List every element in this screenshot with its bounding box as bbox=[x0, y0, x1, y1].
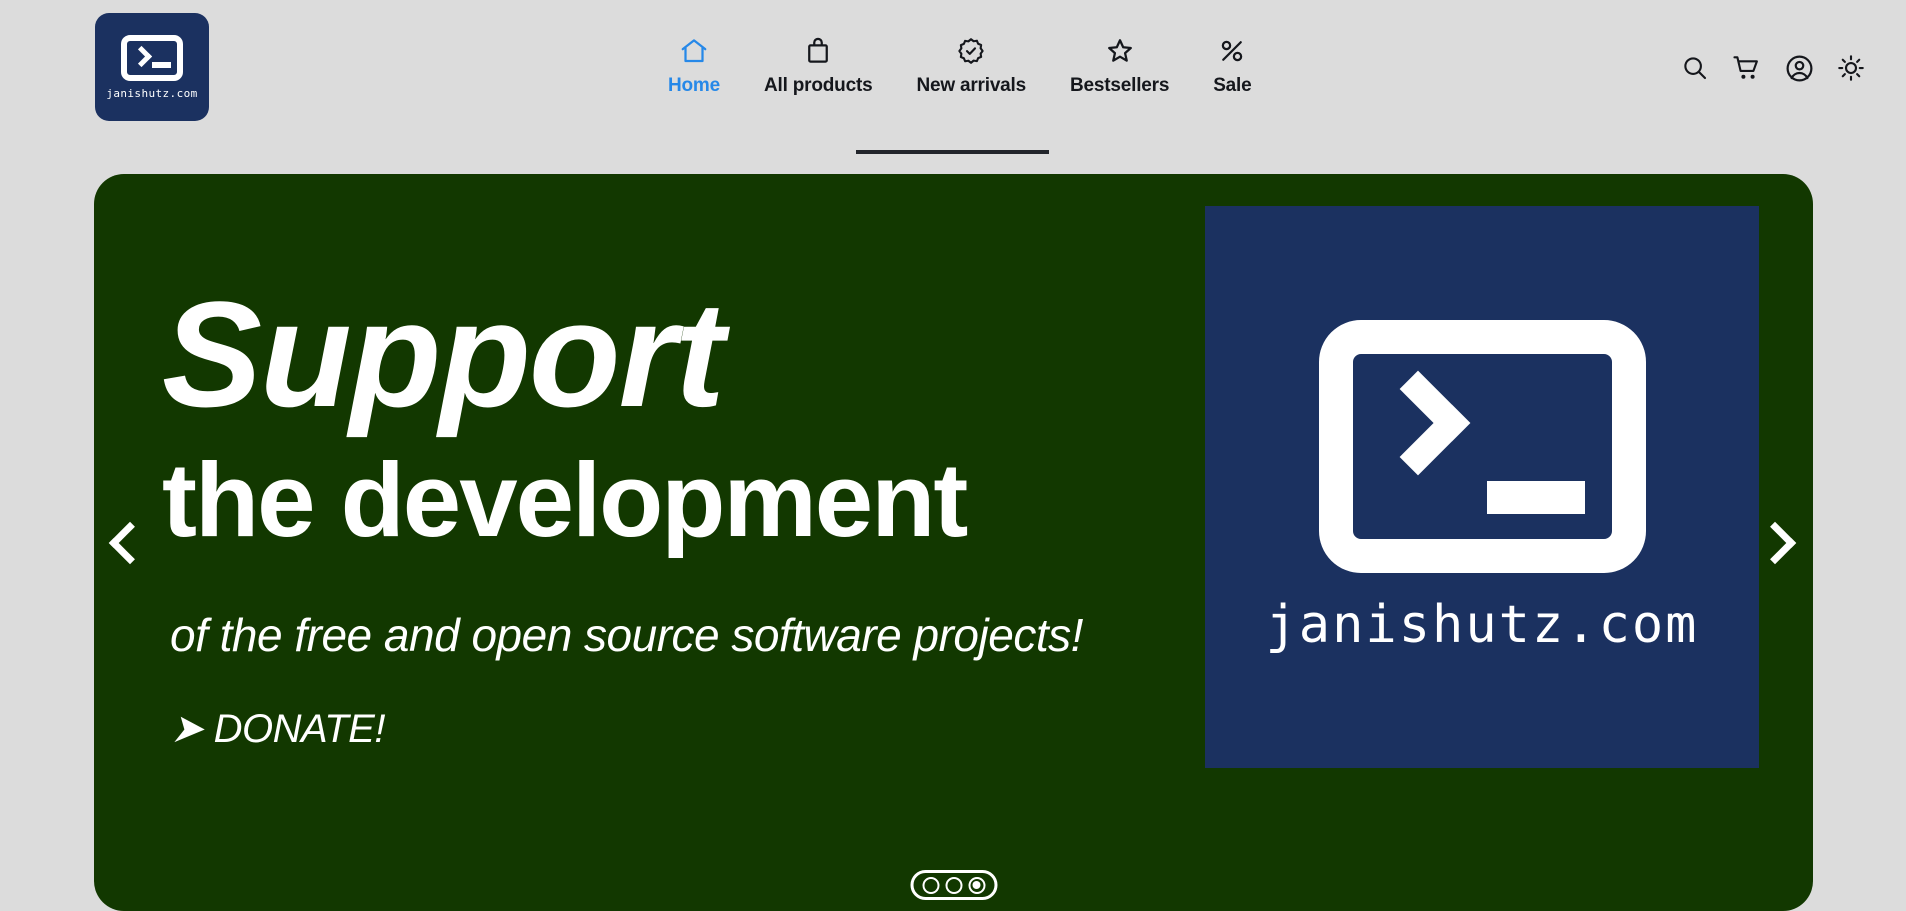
site-header: janishutz.com Home All products bbox=[0, 0, 1906, 170]
nav-item-home[interactable]: Home bbox=[646, 36, 742, 97]
nav-label-new-arrivals: New arrivals bbox=[916, 75, 1026, 97]
donate-link[interactable]: ➤ DONATE! bbox=[170, 706, 385, 752]
nav-label-sale: Sale bbox=[1213, 75, 1251, 97]
hero-image-card: janishutz.com bbox=[1205, 206, 1759, 768]
carousel-dot-1[interactable] bbox=[922, 877, 939, 894]
hero-line-3: of the free and open source software pro… bbox=[170, 608, 1272, 662]
account-icon[interactable] bbox=[1784, 53, 1815, 84]
nav-item-new-arrivals[interactable]: New arrivals bbox=[894, 36, 1048, 97]
brand-logo[interactable]: janishutz.com bbox=[95, 13, 209, 121]
carousel-dot-3[interactable] bbox=[968, 877, 985, 894]
nav-label-all-products: All products bbox=[764, 75, 872, 97]
hero-line-2: the development bbox=[162, 435, 1272, 566]
carousel-prev-button[interactable] bbox=[102, 506, 148, 580]
carousel-pagination[interactable] bbox=[910, 870, 997, 900]
nav-label-bestsellers: Bestsellers bbox=[1070, 75, 1169, 97]
nav-item-sale[interactable]: Sale bbox=[1191, 36, 1273, 97]
chevron-right-icon bbox=[1754, 521, 1796, 563]
terminal-icon bbox=[1319, 320, 1646, 573]
percent-icon bbox=[1217, 36, 1247, 66]
sun-icon[interactable] bbox=[1836, 53, 1866, 83]
hero-card-label: janishutz.com bbox=[1266, 595, 1699, 655]
carousel-dot-2[interactable] bbox=[945, 877, 962, 894]
hero-line-1: Support bbox=[162, 279, 1272, 429]
home-icon bbox=[679, 36, 709, 66]
carousel-next-button[interactable] bbox=[1757, 506, 1803, 580]
hero-copy: Support the development of the free and … bbox=[162, 279, 1272, 752]
hero-carousel: Support the development of the free and … bbox=[94, 174, 1813, 911]
verified-icon bbox=[956, 36, 986, 66]
terminal-icon bbox=[121, 35, 183, 81]
main-navigation: Home All products New arrivals bbox=[646, 36, 1274, 97]
bag-icon bbox=[803, 36, 833, 66]
nav-item-bestsellers[interactable]: Bestsellers bbox=[1048, 36, 1191, 97]
nav-label-home: Home bbox=[668, 75, 720, 97]
search-icon[interactable] bbox=[1680, 53, 1710, 83]
header-actions bbox=[1680, 52, 1866, 84]
chevron-left-icon bbox=[109, 521, 151, 563]
nav-item-all-products[interactable]: All products bbox=[742, 36, 894, 97]
brand-label: janishutz.com bbox=[106, 87, 197, 100]
shopping-cart-icon[interactable] bbox=[1731, 52, 1763, 84]
star-icon bbox=[1105, 36, 1135, 66]
nav-active-underline bbox=[856, 150, 1049, 154]
